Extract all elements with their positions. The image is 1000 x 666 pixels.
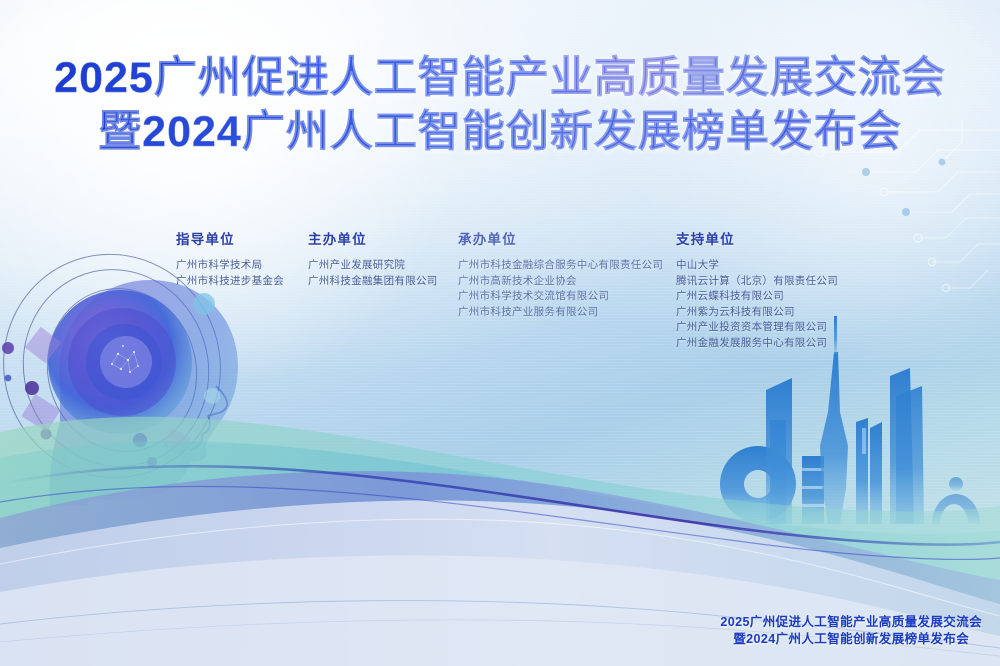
poster-title: 2025广州促进人工智能产业高质量发展交流会 暨2024广州人工智能创新发展榜单…: [0, 54, 1000, 158]
unit-item: 广州科技金融集团有限公司: [308, 274, 438, 290]
unit-heading: 支持单位: [676, 228, 838, 248]
unit-item: 腾讯云计算（北京）有限责任公司: [676, 274, 838, 290]
unit-item: 广州市科技金融综合服务中心有限责任公司: [458, 258, 663, 274]
unit-item: 中山大学: [676, 258, 838, 274]
unit-item: 广州市科技产业服务有限公司: [458, 305, 663, 321]
unit-heading: 承办单位: [458, 228, 663, 248]
unit-item: 广州产业投资资本管理有限公司: [676, 320, 838, 336]
title-line-1: 2025广州促进人工智能产业高质量发展交流会: [0, 54, 1000, 104]
unit-column-host: 主办单位 广州产业发展研究院 广州科技金融集团有限公司: [308, 228, 438, 289]
corner-watermark: 2025广州促进人工智能产业高质量发展交流会 暨2024广州人工智能创新发展榜单…: [720, 614, 982, 648]
unit-item: 广州产业发展研究院: [308, 258, 438, 274]
unit-column-support: 支持单位 中山大学 腾讯云计算（北京）有限责任公司 广州云蝶科技有限公司 广州紫…: [676, 228, 838, 351]
title-line-2: 暨2024广州人工智能创新发展榜单发布会: [0, 108, 1000, 158]
watermark-line-1: 2025广州促进人工智能产业高质量发展交流会: [720, 614, 982, 631]
unit-item: 广州市高新技术企业协会: [458, 274, 663, 290]
unit-heading: 主办单位: [308, 228, 438, 248]
unit-item: 广州金融发展服务中心有限公司: [676, 336, 838, 352]
unit-item: 广州市科学技术交流馆有限公司: [458, 289, 663, 305]
unit-item: 广州市科学技术局: [176, 258, 284, 274]
unit-item: 广州市科技进步基金会: [176, 274, 284, 290]
watermark-line-2: 暨2024广州人工智能创新发展榜单发布会: [720, 631, 982, 648]
unit-heading: 指导单位: [176, 228, 284, 248]
unit-column-organizer: 承办单位 广州市科技金融综合服务中心有限责任公司 广州市高新技术企业协会 广州市…: [458, 228, 663, 320]
unit-item: 广州紫为云科技有限公司: [676, 305, 838, 321]
organizing-units-section: 指导单位 广州市科学技术局 广州市科技进步基金会 主办单位 广州产业发展研究院 …: [0, 228, 1000, 378]
poster-backdrop: 2025广州促进人工智能产业高质量发展交流会 暨2024广州人工智能创新发展榜单…: [0, 0, 1000, 666]
unit-column-guidance: 指导单位 广州市科学技术局 广州市科技进步基金会: [176, 228, 284, 289]
unit-item: 广州云蝶科技有限公司: [676, 289, 838, 305]
